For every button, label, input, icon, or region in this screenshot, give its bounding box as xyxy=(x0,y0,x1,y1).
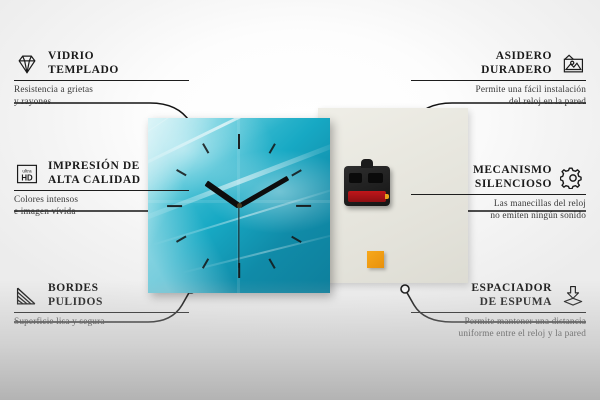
picture-frame-hanger-icon xyxy=(560,53,586,75)
mechanism-slot-right xyxy=(368,173,383,183)
battery xyxy=(348,191,386,202)
divider xyxy=(411,312,586,313)
svg-text:HD: HD xyxy=(21,173,33,182)
subtitle-line-1: Permite mantener una distancia xyxy=(411,317,586,329)
clock-mechanism xyxy=(344,166,390,206)
title-line-1: VIDRIO xyxy=(48,50,119,64)
feature-title: VIDRIO TEMPLADO xyxy=(48,50,119,77)
feature-title: ESPACIADOR DE ESPUMA xyxy=(471,282,552,309)
clock-center-hub xyxy=(237,203,242,208)
title-line-2: DURADERO xyxy=(481,64,552,78)
title-line-2: DE ESPUMA xyxy=(471,296,552,310)
subtitle-line-1: Resistencia a grietas xyxy=(14,85,189,97)
clock-tick xyxy=(291,235,301,242)
feature-subtitle: Colores intensos e imagen vívida xyxy=(14,195,189,218)
feature-asidero-duradero: ASIDERO DURADERO Permite una fácil insta… xyxy=(411,50,586,108)
gear-icon xyxy=(560,167,586,189)
feature-title: BORDES PULIDOS xyxy=(48,282,103,309)
feature-impresion-alta-calidad: ultra HD IMPRESIÓN DE ALTA CALIDAD Color… xyxy=(14,160,189,218)
subtitle-line-2: e imagen vívida xyxy=(14,207,189,219)
title-line-1: MECANISMO xyxy=(473,164,552,178)
diamond-icon xyxy=(14,53,40,75)
clock-tick xyxy=(176,235,186,242)
ultra-hd-icon: ultra HD xyxy=(14,163,40,185)
feature-subtitle: Permite una fácil instalación del reloj … xyxy=(411,85,586,108)
mechanism-shaft xyxy=(361,159,373,168)
subtitle-line-2: no emiten ningún sonido xyxy=(411,211,586,223)
subtitle-line-2: uniforme entre el reloj y la pared xyxy=(411,329,586,341)
feature-header: VIDRIO TEMPLADO xyxy=(14,50,189,77)
divider xyxy=(411,80,586,81)
feature-subtitle: Las manecillas del reloj no emiten ningú… xyxy=(411,199,586,222)
feature-espaciador-de-espuma: ESPACIADOR DE ESPUMA Permite mantener un… xyxy=(411,282,586,340)
title-line-1: ESPACIADOR xyxy=(471,282,552,296)
title-line-1: ASIDERO xyxy=(481,50,552,64)
feature-title: ASIDERO DURADERO xyxy=(481,50,552,77)
clock-tick xyxy=(202,258,209,268)
feature-bordes-pulidos: BORDES PULIDOS Superficie lisa y segura xyxy=(14,282,189,329)
title-line-2: PULIDOS xyxy=(48,296,103,310)
clock-tick xyxy=(269,258,276,268)
subtitle-line-1: Superficie lisa y segura xyxy=(14,317,189,329)
subtitle-line-1: Colores intensos xyxy=(14,195,189,207)
title-line-2: SILENCIOSO xyxy=(473,178,552,192)
title-line-1: IMPRESIÓN DE xyxy=(48,160,141,174)
clock-tick xyxy=(238,134,240,149)
clock-tick xyxy=(291,169,301,176)
feature-vidrio-templado: VIDRIO TEMPLADO Resistencia a grietas y … xyxy=(14,50,189,108)
clock-hour-hand xyxy=(205,180,241,208)
arrow-into-layers-icon xyxy=(560,285,586,307)
clock-minute-hand xyxy=(238,175,289,207)
divider xyxy=(14,190,189,191)
foam-spacer xyxy=(367,251,384,268)
divider xyxy=(411,194,586,195)
subtitle-line-2: y rayones xyxy=(14,97,189,109)
subtitle-line-2: del reloj en la pared xyxy=(411,97,586,109)
subtitle-line-1: Las manecillas del reloj xyxy=(411,199,586,211)
title-line-2: TEMPLADO xyxy=(48,64,119,78)
feature-header: MECANISMO SILENCIOSO xyxy=(411,164,586,191)
infographic-canvas: VIDRIO TEMPLADO Resistencia a grietas y … xyxy=(0,0,600,400)
subtitle-line-1: Permite una fácil instalación xyxy=(411,85,586,97)
feature-subtitle: Permite mantener una distancia uniforme … xyxy=(411,317,586,340)
divider xyxy=(14,312,189,313)
clock-tick xyxy=(296,204,311,206)
mechanism-slot-left xyxy=(349,173,362,183)
feature-mecanismo-silencioso: MECANISMO SILENCIOSO Las manecillas del … xyxy=(411,164,586,222)
feature-header: BORDES PULIDOS xyxy=(14,282,189,309)
clock-second-hand xyxy=(238,206,239,268)
divider xyxy=(14,80,189,81)
feature-subtitle: Superficie lisa y segura xyxy=(14,317,189,329)
feature-header: ESPACIADOR DE ESPUMA xyxy=(411,282,586,309)
feature-header: ASIDERO DURADERO xyxy=(411,50,586,77)
clock-tick xyxy=(202,143,209,153)
title-line-2: ALTA CALIDAD xyxy=(48,174,141,188)
feature-subtitle: Resistencia a grietas y rayones xyxy=(14,85,189,108)
feature-title: IMPRESIÓN DE ALTA CALIDAD xyxy=(48,160,141,187)
feature-header: ultra HD IMPRESIÓN DE ALTA CALIDAD xyxy=(14,160,189,187)
title-line-1: BORDES xyxy=(48,282,103,296)
hatched-edge-icon xyxy=(14,285,40,307)
clock-tick xyxy=(269,143,276,153)
feature-title: MECANISMO SILENCIOSO xyxy=(473,164,552,191)
